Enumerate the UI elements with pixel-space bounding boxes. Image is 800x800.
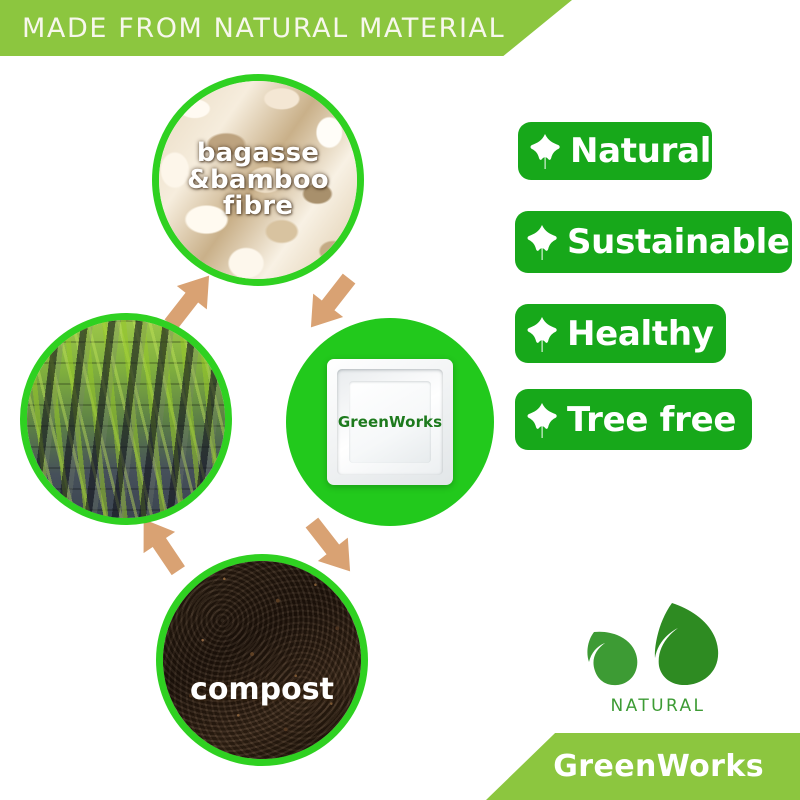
footer-brand-label: GreenWorks — [553, 749, 764, 784]
feature-badge-sustainable[interactable]: Sustainable — [515, 211, 792, 273]
brand-logo-caption: NATURAL — [568, 696, 748, 716]
compost-photo — [163, 561, 361, 759]
brand-logo: NATURAL — [568, 600, 748, 730]
cycle-node-bagasse: bagasse &bamboo fibre — [152, 74, 364, 286]
two-leaf-logo-icon — [568, 600, 748, 700]
sugarcane-photo — [27, 320, 225, 518]
product-brand-label: GreenWorks — [338, 413, 442, 431]
feature-badge-treefree-label: Tree free — [567, 400, 736, 440]
feature-badge-natural[interactable]: Natural — [518, 122, 712, 180]
feature-badge-sustainable-label: Sustainable — [567, 222, 790, 262]
feature-badge-healthy[interactable]: Healthy — [515, 304, 726, 363]
cycle-node-bagasse-label: bagasse &bamboo fibre — [187, 140, 329, 220]
bagasse-label-line-1: bagasse — [187, 140, 329, 167]
feature-badge-natural-label: Natural — [570, 131, 711, 171]
cycle-node-product: GreenWorks — [286, 318, 494, 526]
leaf-icon — [525, 222, 559, 262]
product-plate: GreenWorks — [327, 359, 453, 485]
leaf-icon — [528, 131, 562, 171]
leaf-icon — [525, 400, 559, 440]
cycle-node-compost-label: compost — [190, 675, 334, 706]
bagasse-label-line-2: &bamboo — [187, 167, 329, 194]
cycle-node-sugarcane — [20, 313, 232, 525]
header-banner: MADE FROM NATURAL MATERIAL — [0, 0, 572, 56]
footer-banner: GreenWorks — [486, 733, 800, 800]
page-title: MADE FROM NATURAL MATERIAL — [22, 13, 505, 44]
feature-badge-healthy-label: Healthy — [567, 314, 714, 354]
feature-badge-treefree[interactable]: Tree free — [515, 389, 752, 450]
bagasse-label-line-3: fibre — [187, 193, 329, 220]
cycle-node-compost: compost — [156, 554, 368, 766]
leaf-icon — [525, 314, 559, 354]
infographic-page: MADE FROM NATURAL MATERIAL bagasse &bamb… — [0, 0, 800, 800]
